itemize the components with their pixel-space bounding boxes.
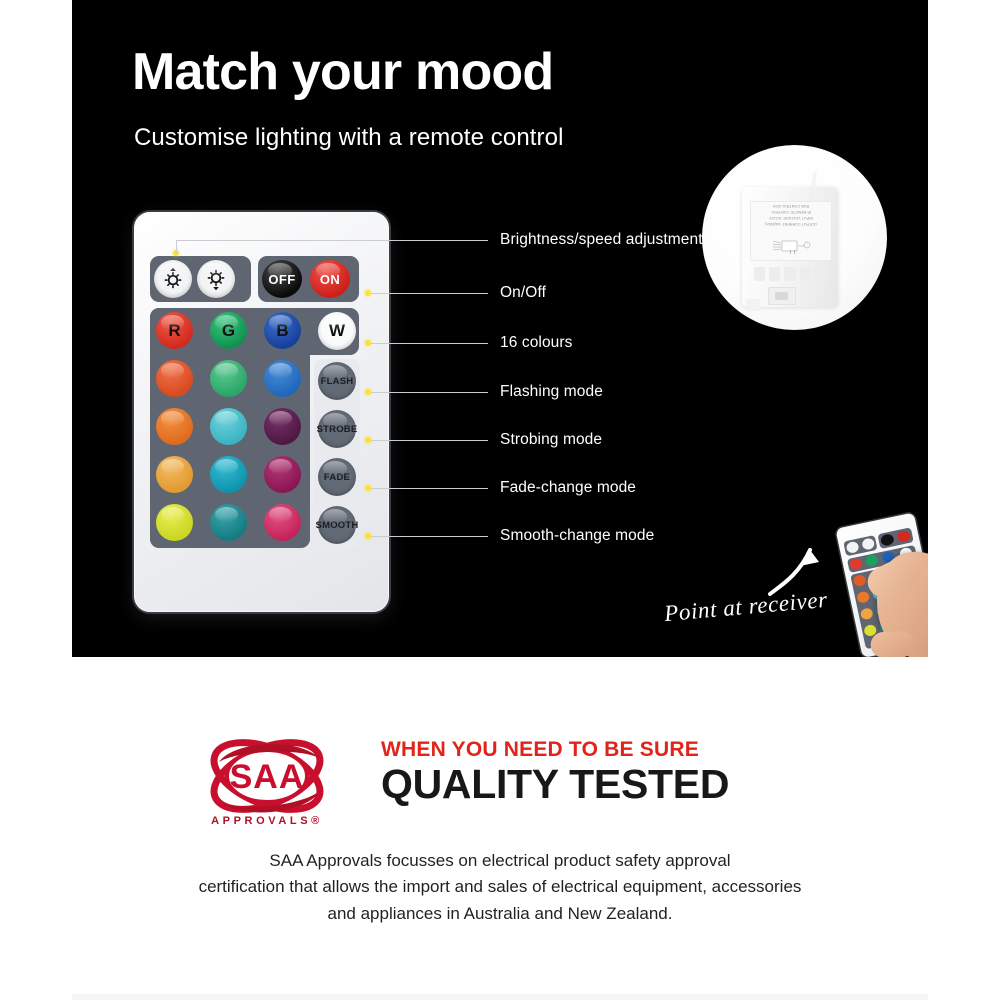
- sun-down-icon: [203, 266, 229, 292]
- page-title: Match your mood: [132, 46, 553, 98]
- callout-label-smooth: Smooth-change mode: [500, 527, 654, 545]
- product-infographic-page: Match your mood Customise lighting with …: [0, 0, 1000, 1000]
- mounting-tab: [746, 299, 760, 311]
- colour-swatch[interactable]: [210, 408, 247, 445]
- callout-leader-strobe: [371, 440, 488, 441]
- fade-button[interactable]: FADE: [318, 458, 356, 496]
- hero-panel: Match your mood Customise lighting with …: [72, 0, 928, 657]
- callout-leader-brightness-vert: [176, 240, 177, 254]
- strobe-button[interactable]: STROBE: [318, 410, 356, 448]
- callout-leader-colours: [371, 343, 488, 344]
- colour-button-green[interactable]: G: [210, 312, 247, 349]
- callout-label-fade: Fade-change mode: [500, 479, 636, 497]
- callout-label-onoff: On/Off: [500, 284, 546, 302]
- callout-label-brightness: Brightness/speed adjustment: [500, 231, 703, 249]
- colour-button-white[interactable]: W: [318, 312, 356, 350]
- colour-swatch[interactable]: [264, 408, 301, 445]
- brightness-up-button[interactable]: [154, 260, 192, 298]
- colour-swatch[interactable]: [210, 360, 247, 397]
- smooth-button[interactable]: SMOOTH: [318, 506, 356, 544]
- colour-swatch[interactable]: [210, 504, 247, 541]
- brightness-down-button[interactable]: [197, 260, 235, 298]
- saa-headline-top: WHEN YOU NEED TO BE SURE: [381, 738, 729, 762]
- hand-holding-remote: [816, 506, 928, 657]
- saa-description: SAA Approvals focusses on electrical pro…: [120, 848, 880, 927]
- callout-leader-onoff: [371, 293, 488, 294]
- saa-description-line-2: certification that allows the import and…: [120, 874, 880, 900]
- control-box-line-3: INPUT VOLTAGE: DC12V: [754, 216, 828, 220]
- point-at-receiver-annotation: Point at receiver: [663, 587, 829, 627]
- connector-port: [768, 287, 796, 305]
- rgb-control-box: OUTPUT CURRENT: 6A(MAX) INPUT VOLTAGE: D…: [742, 187, 838, 307]
- control-box-line-1: RGB CONTROL BOX: [754, 204, 828, 208]
- colour-swatch[interactable]: [264, 504, 301, 541]
- callout-leader-flash: [371, 392, 488, 393]
- colour-swatch[interactable]: [264, 456, 301, 493]
- colour-swatch[interactable]: [156, 504, 193, 541]
- callout-label-flash: Flashing mode: [500, 383, 603, 401]
- callout-label-strobe: Strobing mode: [500, 431, 602, 449]
- on-button[interactable]: ON: [310, 260, 350, 298]
- thumb: [870, 631, 915, 657]
- page-subtitle: Customise lighting with a remote control: [134, 124, 564, 152]
- colour-swatch[interactable]: [156, 456, 193, 493]
- sun-up-icon: [160, 266, 186, 292]
- svg-text:APPROVALS®: APPROVALS®: [211, 815, 323, 827]
- control-box-line-2: IR REMOTE CONTROL: [754, 210, 828, 214]
- vent-slots: [754, 267, 826, 281]
- wiring-diagram-icon: [765, 235, 815, 257]
- callout-leader-smooth: [371, 536, 488, 537]
- colour-button-blue[interactable]: B: [264, 312, 301, 349]
- callout-leader-fade: [371, 488, 488, 489]
- saa-approvals-logo: SAA APPROVALS®: [195, 732, 345, 832]
- colour-button-red[interactable]: R: [156, 312, 193, 349]
- callout-label-colours: 16 colours: [500, 334, 573, 352]
- control-box-line-4: OUTPUT CURRENT: 6A(MAX): [754, 222, 828, 226]
- saa-approval-section: SAA APPROVALS® WHEN YOU NEED TO BE SURE …: [0, 700, 1000, 1000]
- callout-leader-brightness: [176, 240, 488, 241]
- colour-swatch[interactable]: [264, 360, 301, 397]
- saa-description-line-3: and appliances in Australia and New Zeal…: [120, 901, 880, 927]
- remote-control[interactable]: OFF ON R G B W FLASH STROBE FADE SM: [134, 212, 389, 612]
- flash-button[interactable]: FLASH: [318, 362, 356, 400]
- saa-banner-row: SAA APPROVALS® WHEN YOU NEED TO BE SURE …: [195, 732, 815, 836]
- off-button[interactable]: OFF: [262, 260, 302, 298]
- saa-description-line-1: SAA Approvals focusses on electrical pro…: [120, 848, 880, 874]
- svg-text:SAA: SAA: [230, 758, 305, 796]
- control-box-label: OUTPUT CURRENT: 6A(MAX) INPUT VOLTAGE: D…: [750, 201, 832, 261]
- bottom-divider: [72, 994, 928, 1000]
- saa-headline-block: WHEN YOU NEED TO BE SURE QUALITY TESTED: [381, 738, 729, 806]
- receiver-photo: OUTPUT CURRENT: 6A(MAX) INPUT VOLTAGE: D…: [702, 145, 887, 330]
- colour-swatch[interactable]: [210, 456, 247, 493]
- saa-headline-main: QUALITY TESTED: [381, 764, 729, 806]
- colour-swatch[interactable]: [156, 408, 193, 445]
- colour-swatch[interactable]: [156, 360, 193, 397]
